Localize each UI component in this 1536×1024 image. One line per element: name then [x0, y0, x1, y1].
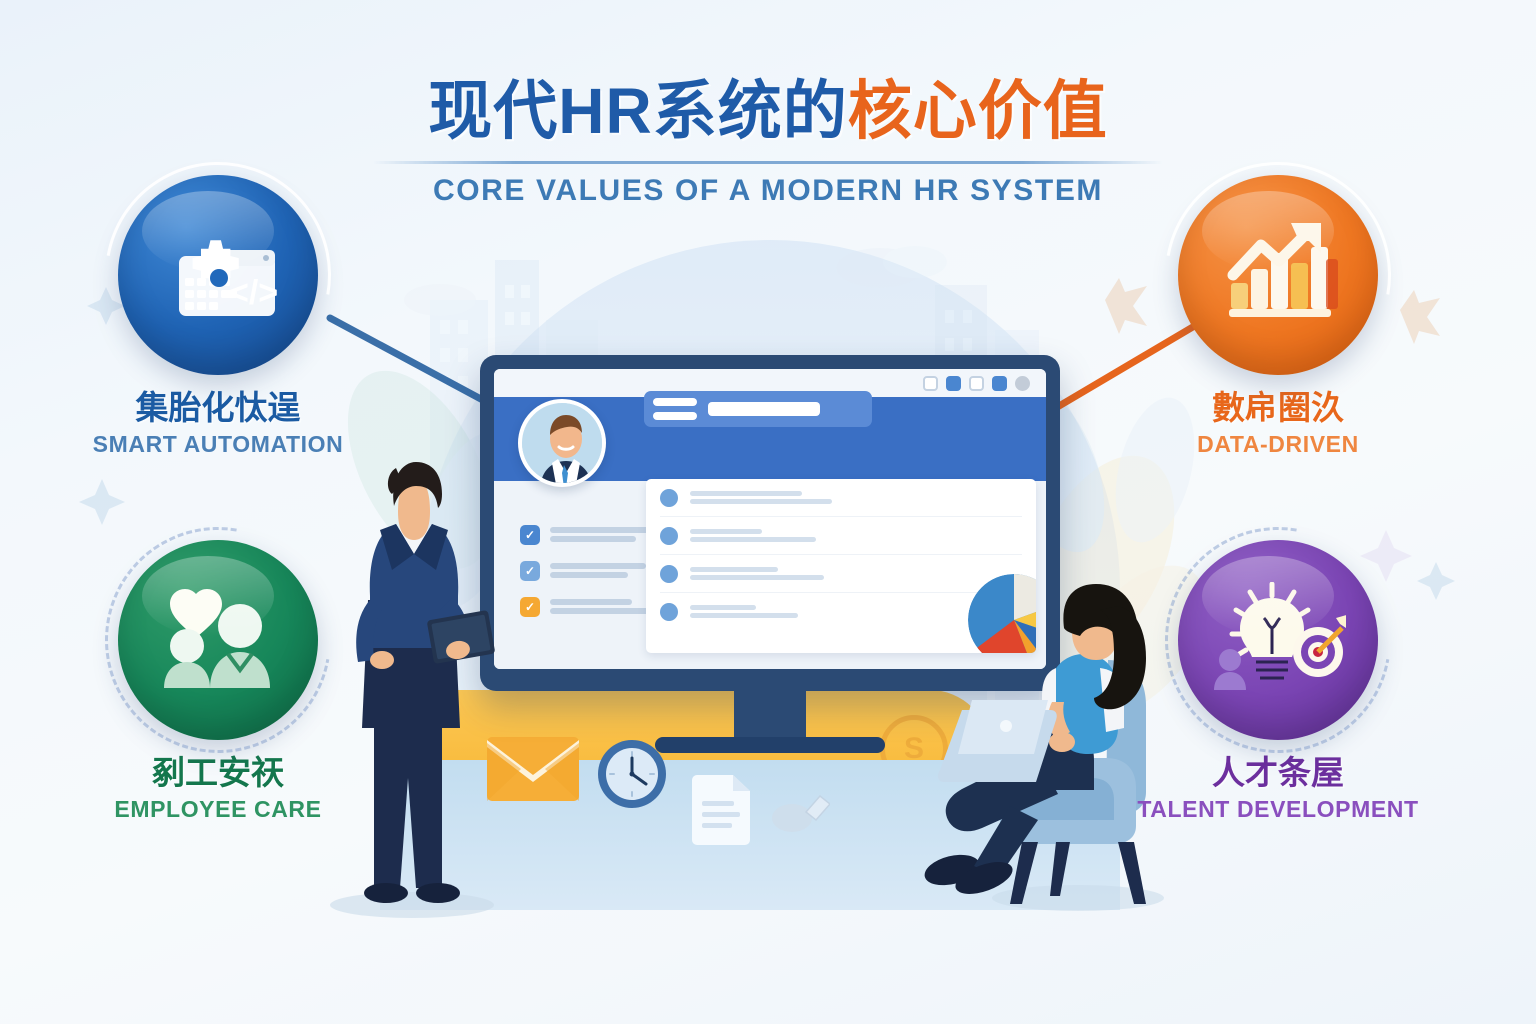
talent-development-label-en: TALENT DEVELOPMENT	[1128, 796, 1428, 823]
window-control-fill-icon[interactable]	[992, 376, 1007, 391]
smart-automation-label-en: SMART AUTOMATION	[68, 431, 368, 458]
check-icon: ✓	[520, 561, 540, 581]
data-driven-label-cn: 數帍圈汣	[1128, 389, 1428, 427]
talent-development-label-cn: 人才条屋	[1128, 754, 1428, 792]
checklist-panel: ✓ ✓ ✓	[520, 524, 658, 632]
window-control-outline-icon[interactable]	[969, 376, 984, 391]
list-bullet-icon	[660, 603, 678, 621]
hr-dashboard-monitor[interactable]: ✓ ✓ ✓	[480, 355, 1060, 753]
avatar[interactable]	[518, 399, 606, 487]
employee-care-label-en: EMPLOYEE CARE	[68, 796, 368, 823]
checklist-item[interactable]: ✓	[520, 560, 658, 581]
node-data-driven[interactable]: 數帍圈汣 DATA-DRIVEN	[1178, 175, 1428, 458]
list-item[interactable]	[646, 517, 1036, 554]
checklist-item[interactable]: ✓	[520, 524, 658, 545]
search-label-bar	[653, 398, 697, 406]
list-bullet-icon	[660, 565, 678, 583]
list-bullet-icon	[660, 489, 678, 507]
checklist-item[interactable]: ✓	[520, 596, 658, 617]
node-smart-automation[interactable]: </> 集胎化忲逞 SMART AUTOMATION	[118, 175, 368, 458]
search-field-bar	[708, 402, 820, 416]
list-item-text	[690, 526, 816, 545]
node-employee-care[interactable]: 剢工安祆 EMPLOYEE CARE	[118, 540, 368, 823]
window-control-dot-icon[interactable]	[1015, 376, 1030, 391]
list-item-text	[690, 488, 832, 507]
check-icon: ✓	[520, 597, 540, 617]
title-divider	[373, 161, 1163, 164]
search-label-bar	[653, 412, 697, 420]
checklist-item-text	[550, 560, 646, 581]
talent-development-label: 人才条屋 TALENT DEVELOPMENT	[1128, 754, 1428, 823]
document-icon	[692, 775, 750, 845]
checklist-item-text	[550, 596, 650, 617]
monitor-stand-neck	[734, 691, 806, 737]
check-icon: ✓	[520, 525, 540, 545]
monitor-stand-base	[655, 737, 885, 753]
employee-care-label-cn: 剢工安祆	[68, 754, 368, 792]
window-control-outline-icon[interactable]	[923, 376, 938, 391]
list-item[interactable]	[646, 555, 1036, 592]
page-subtitle-en: CORE VALUES OF A MODERN HR SYSTEM	[0, 174, 1536, 208]
smart-automation-label-cn: 集胎化忲逞	[68, 389, 368, 427]
search-input[interactable]	[644, 391, 872, 427]
smart-automation-label: 集胎化忲逞 SMART AUTOMATION	[68, 389, 368, 458]
list-item[interactable]	[646, 479, 1036, 516]
infographic-canvas: 现代HR系统的核心价值 CORE VALUES OF A MODERN HR S…	[0, 0, 1536, 1024]
checklist-item-text	[550, 524, 658, 545]
window-control-fill-icon[interactable]	[946, 376, 961, 391]
title-cn-accent: 核心价值	[848, 75, 1108, 147]
data-driven-label-en: DATA-DRIVEN	[1128, 431, 1428, 458]
list-item-text	[690, 602, 798, 621]
title-cn-primary: 现代HR系统的	[428, 75, 847, 147]
small-flask-icon	[770, 790, 830, 836]
monitor-screen[interactable]: ✓ ✓ ✓	[494, 369, 1046, 669]
monitor-frame: ✓ ✓ ✓	[480, 355, 1060, 691]
title-block: 现代HR系统的核心价值 CORE VALUES OF A MODERN HR S…	[0, 78, 1536, 208]
talent-development-badge	[1178, 540, 1378, 740]
list-bullet-icon	[660, 527, 678, 545]
employee-care-label: 剢工安祆 EMPLOYEE CARE	[68, 754, 368, 823]
data-driven-label: 數帍圈汣 DATA-DRIVEN	[1128, 389, 1428, 458]
dashboard-content-card: ✓	[646, 479, 1036, 653]
employee-care-badge	[118, 540, 318, 740]
page-title-cn: 现代HR系统的核心价值	[0, 78, 1536, 145]
node-talent-development[interactable]: 人才条屋 TALENT DEVELOPMENT	[1178, 540, 1428, 823]
list-item-text	[690, 564, 824, 583]
